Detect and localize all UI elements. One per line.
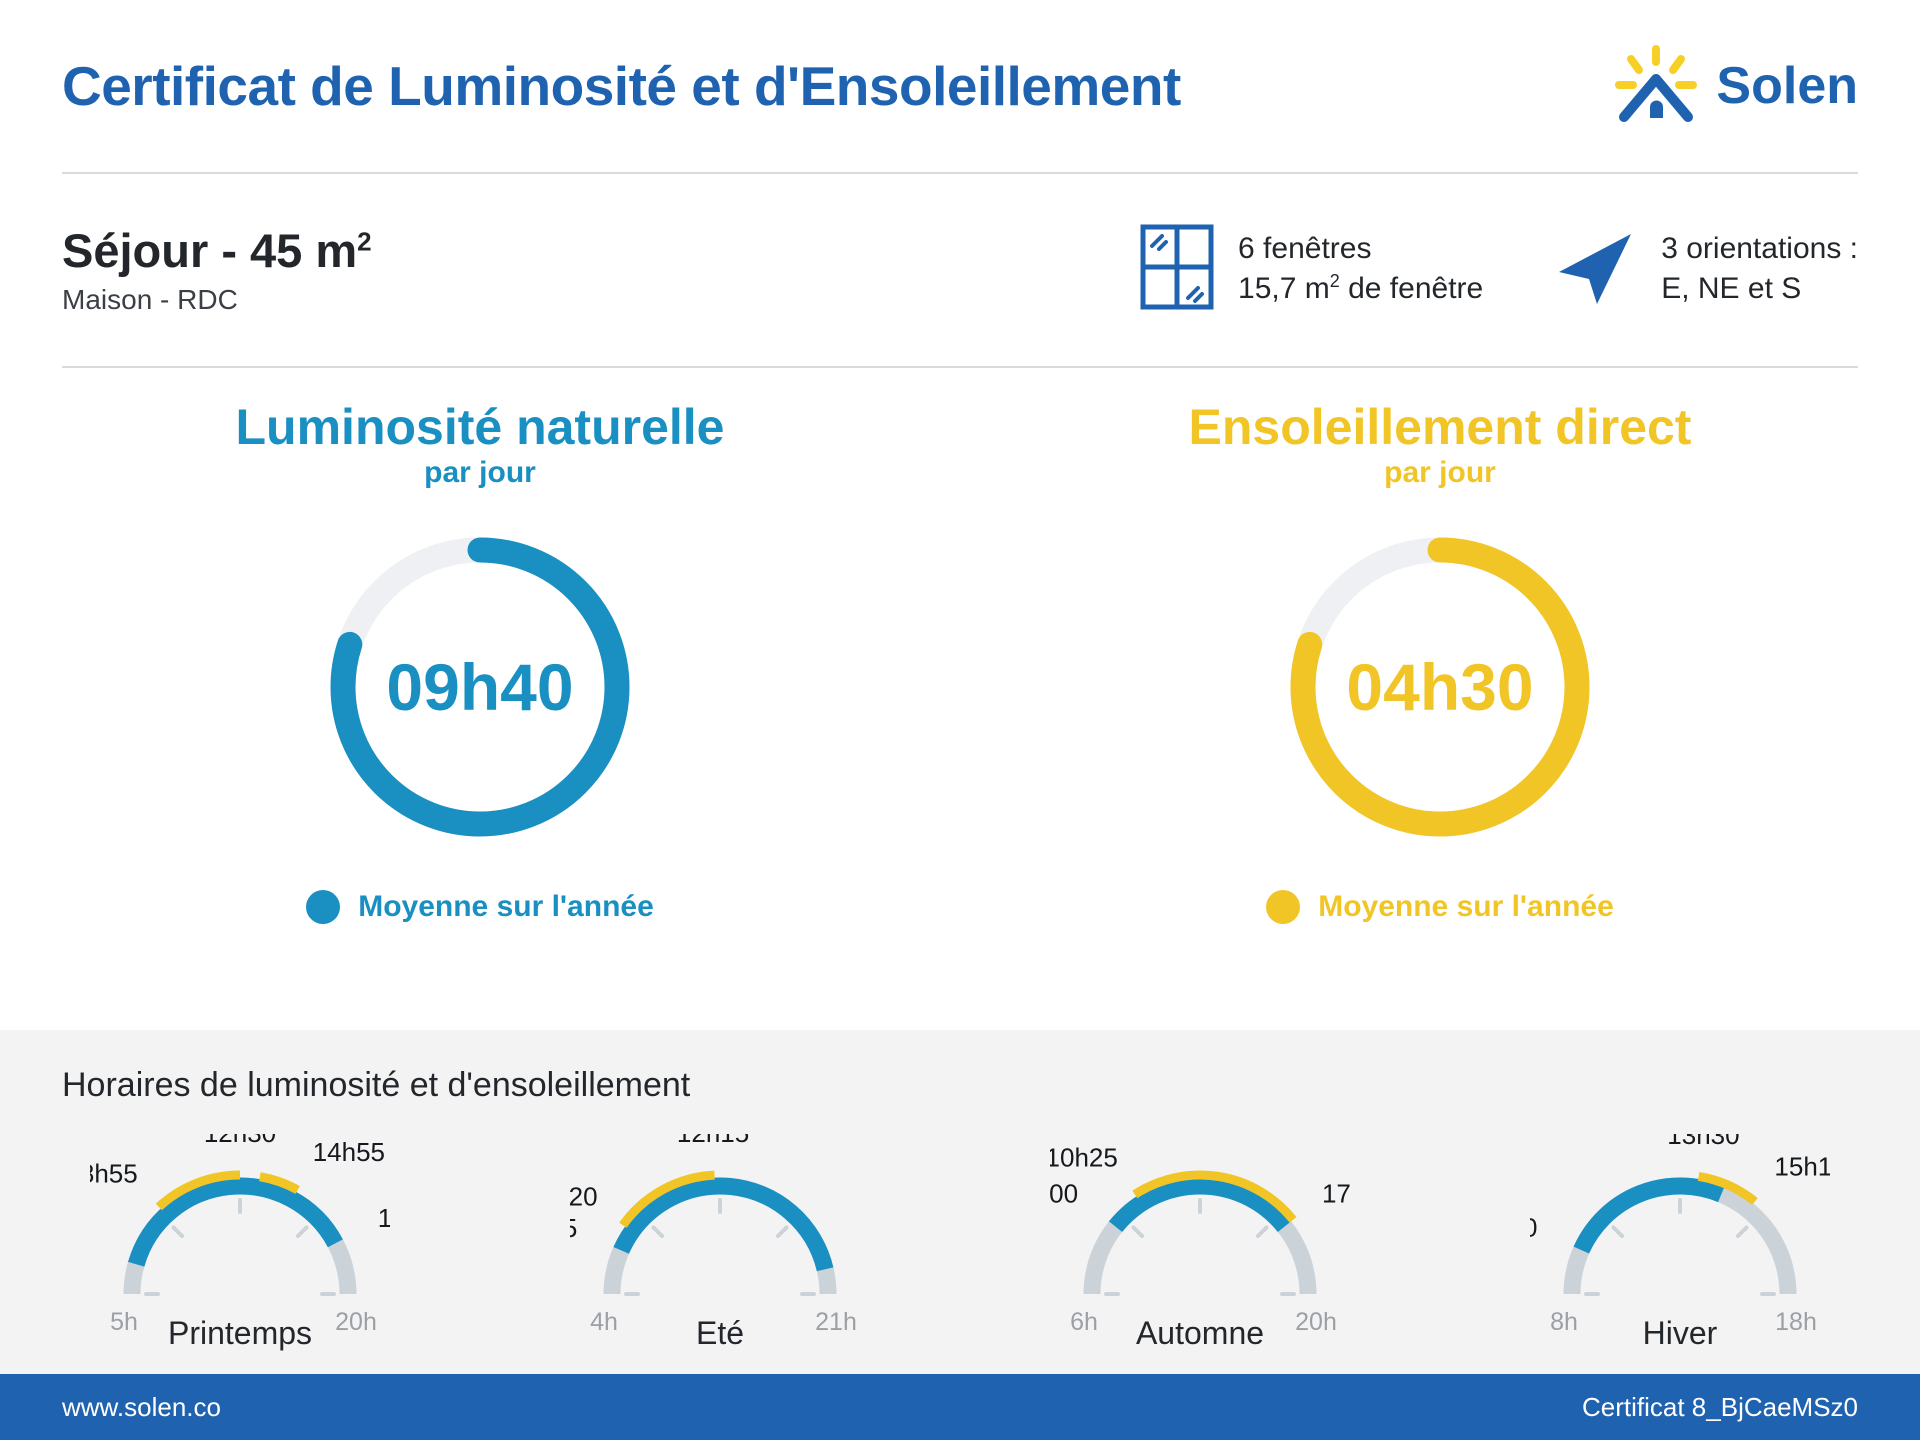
donut-title: Ensoleillement direct xyxy=(1189,400,1692,454)
svg-text:09h20: 09h20 xyxy=(1530,1213,1537,1243)
windows-area-value: 15,7 m xyxy=(1238,272,1330,305)
svg-text:20h: 20h xyxy=(1295,1308,1337,1334)
svg-text:13h30: 13h30 xyxy=(1667,1134,1739,1150)
season-name: Printemps xyxy=(168,1315,312,1352)
page-header: Certificat de Luminosité et d'Ensoleille… xyxy=(0,0,1920,172)
page-title: Certificat de Luminosité et d'Ensoleille… xyxy=(62,54,1181,118)
donut-subtitle: par jour xyxy=(1384,456,1496,490)
seasons-row: 5h20h06h2017h4008h5512h3014h55 Printemps… xyxy=(0,1126,1920,1356)
window-icon xyxy=(1140,224,1214,315)
room-title: Séjour - 45 m2 xyxy=(62,223,372,278)
room-area-exponent: 2 xyxy=(357,226,371,256)
windows-info: 6 fenêtres 15,7 m2 de fenêtre xyxy=(1140,224,1483,315)
legend-dot-icon xyxy=(1266,890,1300,924)
orientation-count: 3 orientations : xyxy=(1661,229,1858,269)
seasons-heading: Horaires de luminosité et d'ensoleilleme… xyxy=(62,1066,690,1105)
donut-legend: Moyenne sur l'année xyxy=(306,890,654,924)
footer-website[interactable]: www.solen.co xyxy=(62,1392,221,1423)
room-block: Séjour - 45 m2 Maison - RDC xyxy=(62,223,372,316)
donut-luminosite: Luminosité naturelle par jour 09h40 Moye… xyxy=(0,400,960,1030)
season-name: Automne xyxy=(1136,1315,1264,1352)
orientation-list: E, NE et S xyxy=(1661,269,1858,309)
svg-text:5h: 5h xyxy=(110,1308,138,1334)
donut-chart-luminosite: 09h40 xyxy=(315,522,645,852)
donut-gauges: Luminosité naturelle par jour 09h40 Moye… xyxy=(0,400,1920,1030)
season-name: Eté xyxy=(696,1315,744,1352)
windows-count: 6 fenêtres xyxy=(1238,229,1483,269)
windows-text: 6 fenêtres 15,7 m2 de fenêtre xyxy=(1238,229,1483,309)
season-gauge: 5h20h06h2017h4008h5512h3014h55 Printemps xyxy=(0,1126,480,1356)
svg-text:14h55: 14h55 xyxy=(313,1137,385,1167)
legend-dot-icon xyxy=(306,890,340,924)
room-info-bar: Séjour - 45 m2 Maison - RDC xyxy=(0,172,1920,366)
compass-arrow-icon xyxy=(1553,224,1637,315)
svg-text:8h: 8h xyxy=(1550,1308,1578,1334)
svg-text:21h: 21h xyxy=(815,1308,857,1334)
windows-area-suffix: de fenêtre xyxy=(1340,272,1483,305)
svg-text:12h30: 12h30 xyxy=(204,1134,276,1148)
donut-ensoleillement: Ensoleillement direct par jour 04h30 Moy… xyxy=(960,400,1920,1030)
svg-text:4h: 4h xyxy=(590,1308,618,1334)
svg-text:07h20: 07h20 xyxy=(570,1181,598,1211)
room-subtitle: Maison - RDC xyxy=(62,284,372,316)
windows-area: 15,7 m2 de fenêtre xyxy=(1238,269,1483,309)
donut-title: Luminosité naturelle xyxy=(236,400,725,454)
svg-text:08h55: 08h55 xyxy=(90,1158,138,1188)
legend-label: Moyenne sur l'année xyxy=(358,890,654,924)
svg-text:18h: 18h xyxy=(1775,1308,1817,1334)
brand-logo: Solen xyxy=(1614,45,1858,128)
donut-value: 09h40 xyxy=(315,522,645,852)
svg-text:15h10: 15h10 xyxy=(1774,1151,1830,1181)
footer-certificate-id: Certificat 8_BjCaeMSz0 xyxy=(1582,1392,1858,1423)
seasons-panel: Horaires de luminosité et d'ensoleilleme… xyxy=(0,1030,1920,1374)
orientation-text: 3 orientations : E, NE et S xyxy=(1661,229,1858,309)
orientation-info: 3 orientations : E, NE et S xyxy=(1553,224,1858,315)
room-name: Séjour - 45 m xyxy=(62,224,357,277)
windows-area-exponent: 2 xyxy=(1330,271,1340,291)
svg-text:09h00: 09h00 xyxy=(1050,1179,1078,1209)
sun-house-icon xyxy=(1614,45,1698,128)
season-gauge: 4h21h06h1519h4507h2012h15 Eté xyxy=(480,1126,960,1356)
svg-text:20h: 20h xyxy=(335,1308,377,1334)
donut-chart-ensoleillement: 04h30 xyxy=(1275,522,1605,852)
svg-text:10h25: 10h25 xyxy=(1050,1142,1118,1172)
svg-text:12h15: 12h15 xyxy=(677,1134,749,1148)
donut-legend: Moyenne sur l'année xyxy=(1266,890,1614,924)
donut-subtitle: par jour xyxy=(424,456,536,490)
svg-text:17h40: 17h40 xyxy=(378,1203,390,1233)
svg-text:17h00: 17h00 xyxy=(1322,1179,1350,1209)
meta-group: 6 fenêtres 15,7 m2 de fenêtre 3 orientat… xyxy=(1140,224,1858,315)
season-gauge: 8h18h09h2013h3015h10 Hiver xyxy=(1440,1126,1920,1356)
legend-label: Moyenne sur l'année xyxy=(1318,890,1614,924)
season-name: Hiver xyxy=(1643,1315,1718,1352)
svg-text:06h15: 06h15 xyxy=(570,1213,577,1243)
infobar-divider xyxy=(62,366,1858,368)
svg-text:6h: 6h xyxy=(1070,1308,1098,1334)
certificate-page: Certificat de Luminosité et d'Ensoleille… xyxy=(0,0,1920,1440)
donut-value: 04h30 xyxy=(1275,522,1605,852)
brand-name: Solen xyxy=(1716,56,1858,116)
page-footer: www.solen.co Certificat 8_BjCaeMSz0 xyxy=(0,1374,1920,1440)
season-gauge: 6h20h09h0017h0010h25 Automne xyxy=(960,1126,1440,1356)
